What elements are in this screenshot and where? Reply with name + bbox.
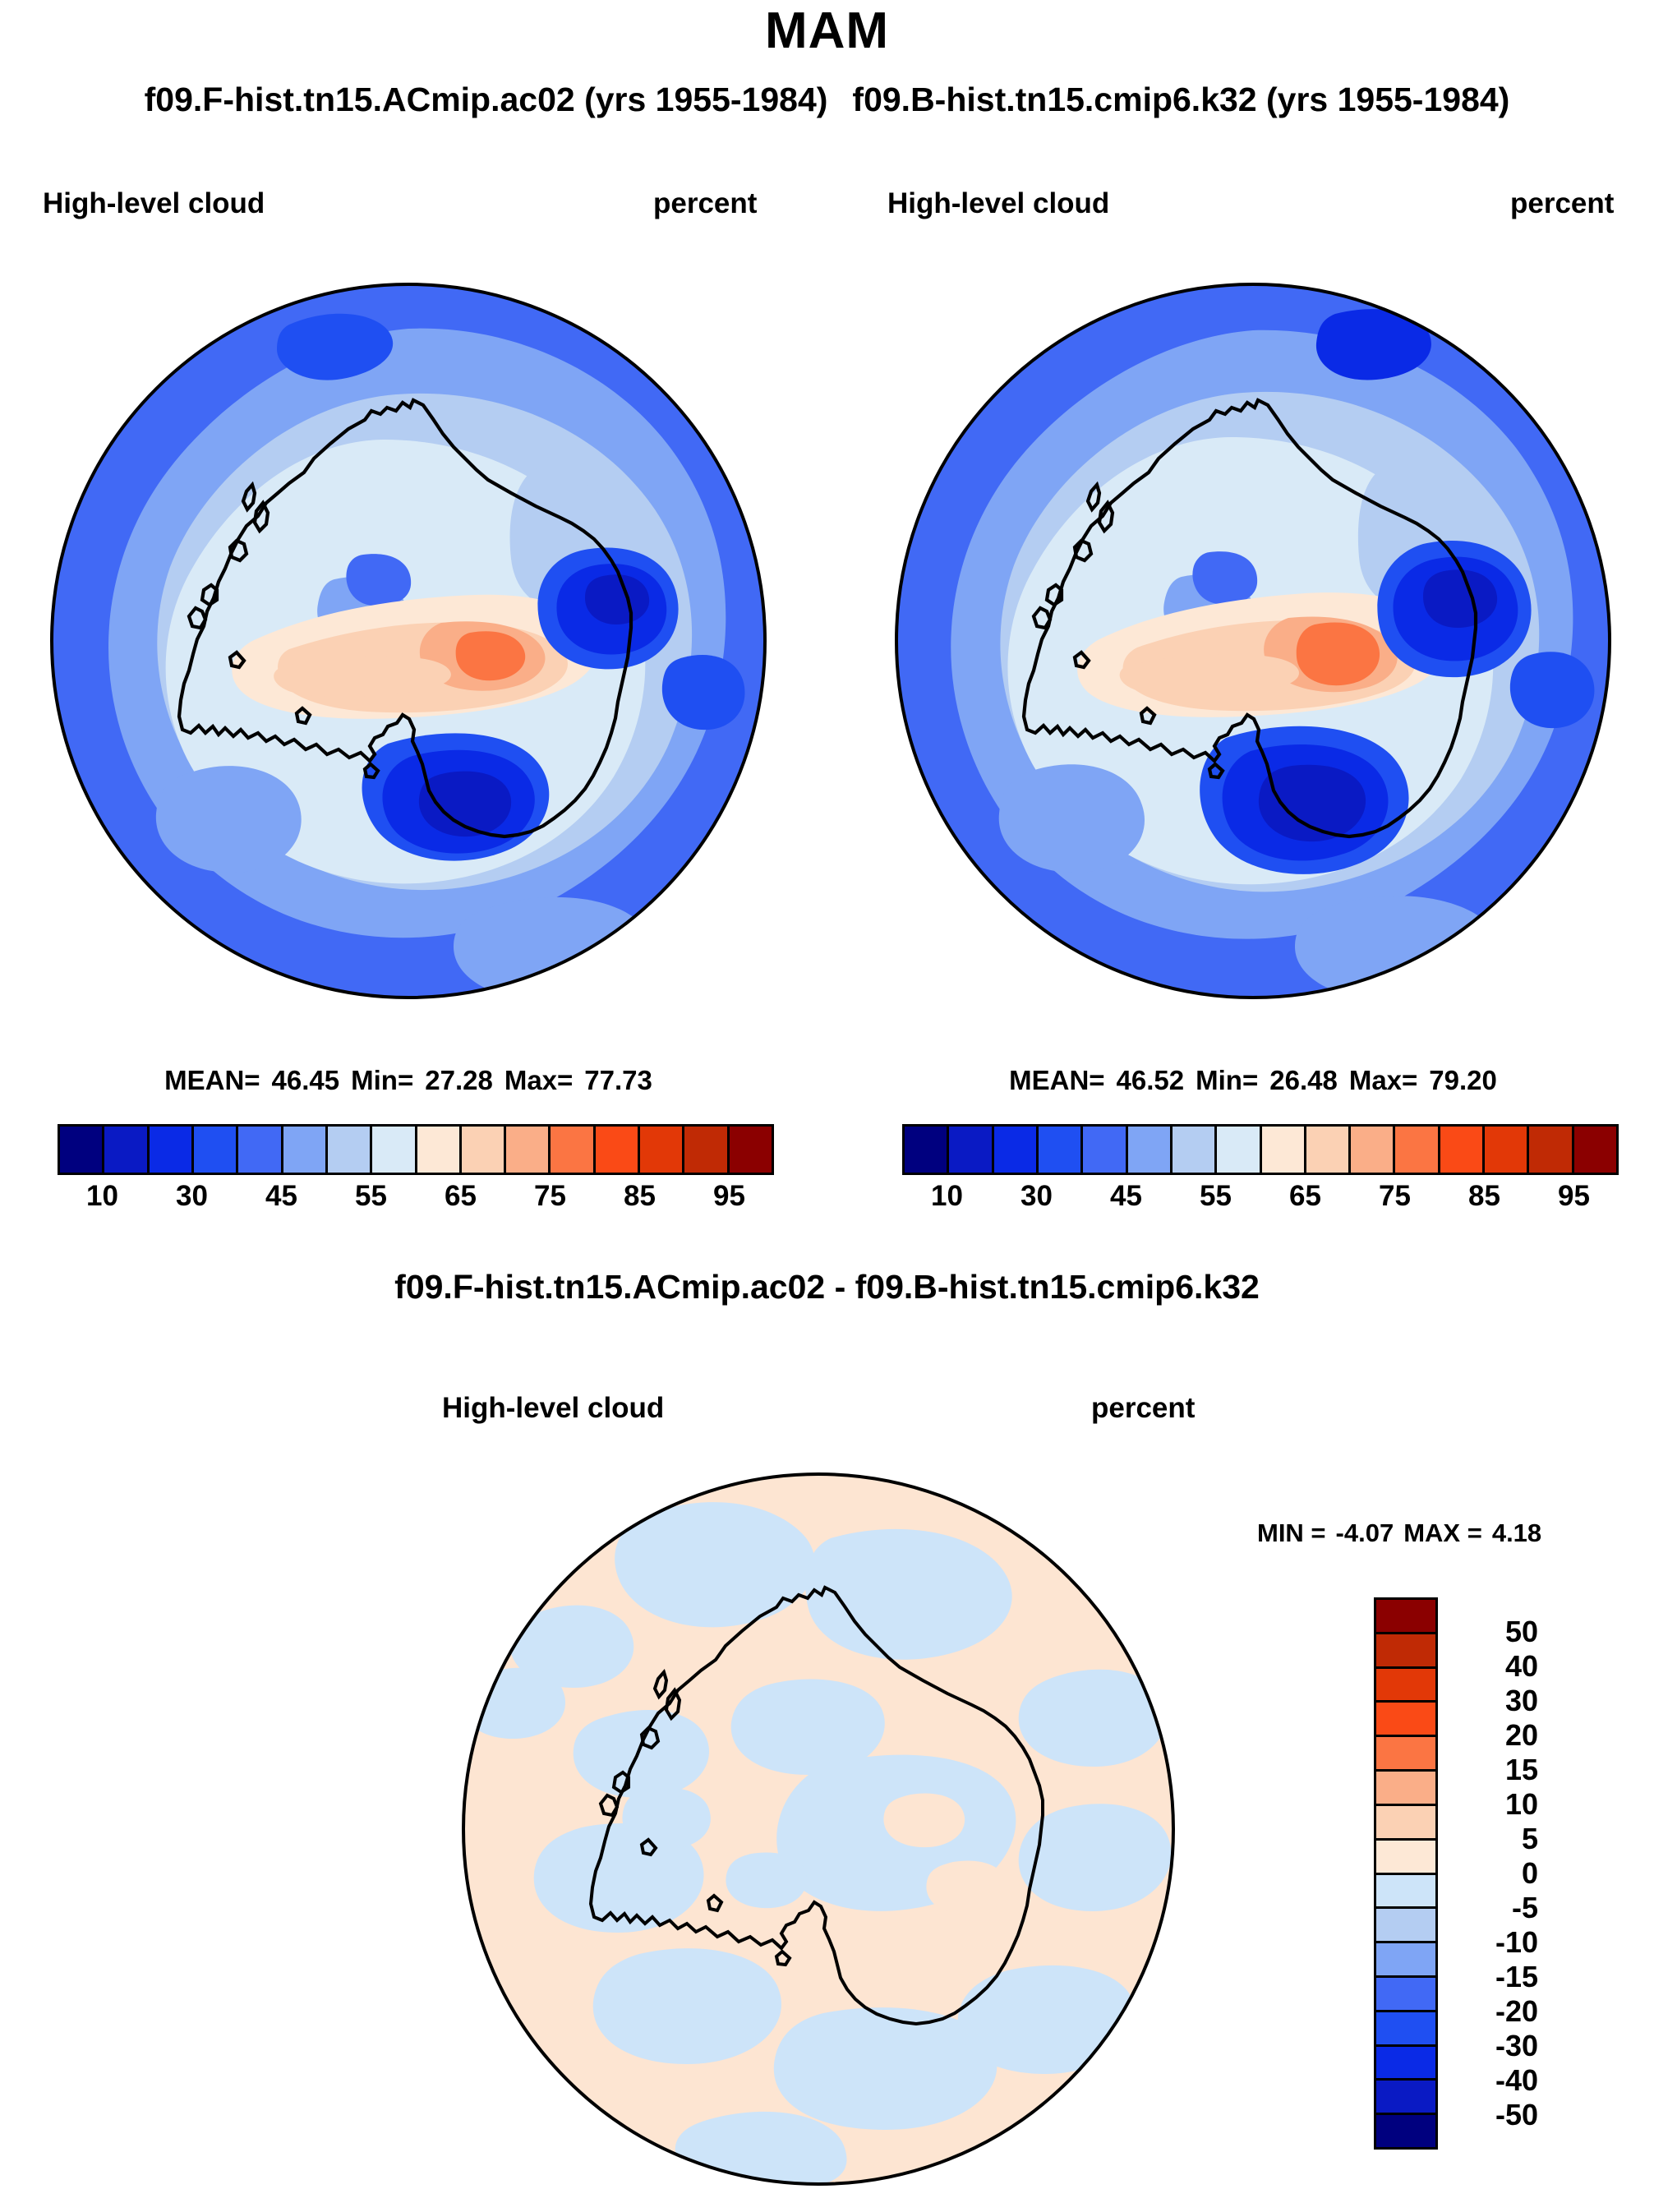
colorbar-right-labels: 1030455565758595	[902, 1180, 1619, 1228]
colorbar-difference-strip	[1374, 1597, 1438, 2150]
colorbar-right-cell-13	[1485, 1127, 1529, 1173]
colorbar-left-labels: 1030455565758595	[58, 1180, 774, 1228]
colorbar-left-cell-6	[328, 1127, 372, 1173]
colorbar-difference-cell-1	[1376, 1634, 1435, 1669]
colorbar-difference-cell-3	[1376, 1703, 1435, 1737]
case-titles-row: f09.F-hist.tn15.ACmip.ac02 (yrs 1955-198…	[0, 81, 1654, 119]
colorbar-right-cell-6	[1173, 1127, 1217, 1173]
map-svg-right	[887, 279, 1619, 1002]
colorbar-left-cell-7	[372, 1127, 417, 1173]
colorbar-difference-tick-0: 0	[1449, 1856, 1538, 1891]
colorbar-difference-cell-9	[1376, 1909, 1435, 1943]
colorbar-difference-tick-50: 50	[1449, 1615, 1538, 1649]
diff-max-label: MAX =	[1403, 1518, 1482, 1547]
colorbar-left-cell-0	[60, 1127, 104, 1173]
right-mean-label: MEAN=	[1009, 1065, 1104, 1095]
colorbar-right-tick-85: 85	[1468, 1180, 1500, 1213]
colorbar-right-cell-15	[1574, 1127, 1616, 1173]
colorbar-right-tick-45: 45	[1110, 1180, 1142, 1213]
case-title-right: f09.B-hist.tn15.cmip6.k32 (yrs 1955-1984…	[852, 81, 1509, 118]
colorbar-right-cell-0	[905, 1127, 949, 1173]
map-svg-difference	[457, 1468, 1180, 2191]
colorbar-right-cell-8	[1262, 1127, 1306, 1173]
colorbar-right-cell-12	[1440, 1127, 1485, 1173]
colorbar-left-cell-8	[417, 1127, 462, 1173]
colorbar-difference-cell-15	[1376, 2115, 1435, 2147]
colorbar-right[interactable]: 1030455565758595	[902, 1124, 1619, 1228]
colorbar-right-cell-9	[1306, 1127, 1351, 1173]
stats-right: MEAN=46.52Min=26.48Max=79.20	[887, 1065, 1619, 1096]
left-mean-label: MEAN=	[164, 1065, 260, 1095]
left-min-value: 27.28	[425, 1065, 493, 1095]
colorbar-left-tick-95: 95	[713, 1180, 745, 1213]
colorbar-right-strip	[902, 1124, 1619, 1175]
diff-minmax: MIN =-4.07MAX =4.18	[1257, 1518, 1541, 1548]
map-case-left	[43, 279, 774, 1002]
colorbar-left-cell-12	[596, 1127, 640, 1173]
diff-min-label: MIN =	[1257, 1518, 1326, 1547]
colorbar-difference-tick-20: 20	[1449, 1718, 1538, 1753]
colorbar-left-cell-3	[194, 1127, 238, 1173]
diff-units-label: percent	[1091, 1392, 1195, 1425]
diff-panel-title: f09.F-hist.tn15.ACmip.ac02 - f09.B-hist.…	[0, 1268, 1654, 1306]
left-units-label: percent	[653, 187, 757, 220]
colorbar-right-cell-11	[1395, 1127, 1440, 1173]
right-max-value: 79.20	[1429, 1065, 1497, 1095]
colorbar-difference-tick-neg5: -5	[1449, 1891, 1538, 1925]
colorbar-left-cell-15	[730, 1127, 772, 1173]
left-max-value: 77.73	[584, 1065, 652, 1095]
colorbar-left-strip	[58, 1124, 774, 1175]
colorbar-difference-cell-7	[1376, 1841, 1435, 1875]
colorbar-left-cell-13	[640, 1127, 684, 1173]
colorbar-left-tick-45: 45	[265, 1180, 297, 1213]
colorbar-right-tick-75: 75	[1379, 1180, 1411, 1213]
colorbar-right-cell-5	[1128, 1127, 1173, 1173]
colorbar-difference-tick-5: 5	[1449, 1822, 1538, 1856]
colorbar-right-cell-7	[1217, 1127, 1261, 1173]
colorbar-difference-cell-2	[1376, 1669, 1435, 1703]
colorbar-difference-cell-4	[1376, 1737, 1435, 1772]
colorbar-difference[interactable]: 50403020151050-5-10-15-20-30-40-50	[1374, 1597, 1438, 2150]
colorbar-difference-cell-12	[1376, 2012, 1435, 2047]
colorbar-difference-tick-neg20: -20	[1449, 1994, 1538, 2029]
right-variable-label: High-level cloud	[887, 187, 1109, 220]
case-title-left: f09.F-hist.tn15.ACmip.ac02 (yrs 1955-198…	[145, 81, 828, 118]
colorbar-right-tick-30: 30	[1021, 1180, 1053, 1213]
colorbar-left-cell-1	[104, 1127, 149, 1173]
colorbar-difference-labels: 50403020151050-5-10-15-20-30-40-50	[1449, 1597, 1573, 2150]
colorbar-difference-cell-8	[1376, 1875, 1435, 1910]
colorbar-left-tick-75: 75	[534, 1180, 566, 1213]
colorbar-left-cell-11	[551, 1127, 595, 1173]
colorbar-difference-cell-11	[1376, 1978, 1435, 2012]
colorbar-left-tick-65: 65	[445, 1180, 477, 1213]
colorbar-difference-cell-13	[1376, 2047, 1435, 2081]
colorbar-right-cell-14	[1529, 1127, 1573, 1173]
map-svg-left	[43, 279, 774, 1002]
diff-min-value: -4.07	[1336, 1518, 1394, 1547]
colorbar-difference-tick-15: 15	[1449, 1753, 1538, 1787]
colorbar-difference-cell-5	[1376, 1772, 1435, 1806]
colorbar-left-tick-55: 55	[355, 1180, 387, 1213]
colorbar-left-cell-5	[283, 1127, 328, 1173]
colorbar-difference-tick-neg15: -15	[1449, 1960, 1538, 1994]
colorbar-right-tick-65: 65	[1289, 1180, 1321, 1213]
right-min-label: Min=	[1196, 1065, 1258, 1095]
colorbar-left-tick-10: 10	[86, 1180, 118, 1213]
colorbar-difference-tick-neg50: -50	[1449, 2098, 1538, 2132]
colorbar-right-cell-2	[994, 1127, 1039, 1173]
colorbar-difference-cell-0	[1376, 1600, 1435, 1634]
left-variable-label: High-level cloud	[43, 187, 265, 220]
right-min-value: 26.48	[1269, 1065, 1338, 1095]
colorbar-difference-tick-neg30: -30	[1449, 2029, 1538, 2063]
diff-max-value: 4.18	[1492, 1518, 1541, 1547]
right-mean-value: 46.52	[1117, 1065, 1185, 1095]
colorbar-right-tick-95: 95	[1558, 1180, 1590, 1213]
colorbar-left-cell-14	[684, 1127, 729, 1173]
left-mean-value: 46.45	[272, 1065, 340, 1095]
stats-left: MEAN=46.45Min=27.28Max=77.73	[43, 1065, 774, 1096]
colorbar-difference-tick-neg10: -10	[1449, 1925, 1538, 1960]
colorbar-left-tick-85: 85	[624, 1180, 656, 1213]
colorbar-right-cell-4	[1083, 1127, 1127, 1173]
colorbar-difference-cell-14	[1376, 2081, 1435, 2115]
diff-variable-label: High-level cloud	[442, 1392, 664, 1425]
figure-page: MAM f09.F-hist.tn15.ACmip.ac02 (yrs 1955…	[0, 0, 1654, 2212]
colorbar-left-tick-30: 30	[176, 1180, 208, 1213]
colorbar-left-cell-4	[238, 1127, 283, 1173]
colorbar-right-tick-10: 10	[931, 1180, 963, 1213]
colorbar-difference-cell-6	[1376, 1806, 1435, 1841]
colorbar-difference-cell-10	[1376, 1943, 1435, 1978]
colorbar-left-cell-10	[506, 1127, 551, 1173]
page-title: MAM	[0, 2, 1654, 60]
colorbar-difference-tick-neg40: -40	[1449, 2063, 1538, 2098]
colorbar-right-cell-3	[1039, 1127, 1083, 1173]
colorbar-left-cell-2	[150, 1127, 194, 1173]
colorbar-difference-tick-30: 30	[1449, 1684, 1538, 1718]
colorbar-right-cell-10	[1351, 1127, 1395, 1173]
map-difference	[457, 1468, 1180, 2191]
right-units-label: percent	[1510, 187, 1614, 220]
colorbar-left[interactable]: 1030455565758595	[58, 1124, 774, 1228]
colorbar-difference-tick-40: 40	[1449, 1649, 1538, 1684]
colorbar-left-cell-9	[462, 1127, 506, 1173]
map-case-right	[887, 279, 1619, 1002]
colorbar-right-tick-55: 55	[1200, 1180, 1232, 1213]
left-max-label: Max=	[504, 1065, 573, 1095]
right-max-label: Max=	[1349, 1065, 1417, 1095]
left-min-label: Min=	[351, 1065, 413, 1095]
colorbar-difference-tick-10: 10	[1449, 1787, 1538, 1822]
colorbar-right-cell-1	[949, 1127, 993, 1173]
